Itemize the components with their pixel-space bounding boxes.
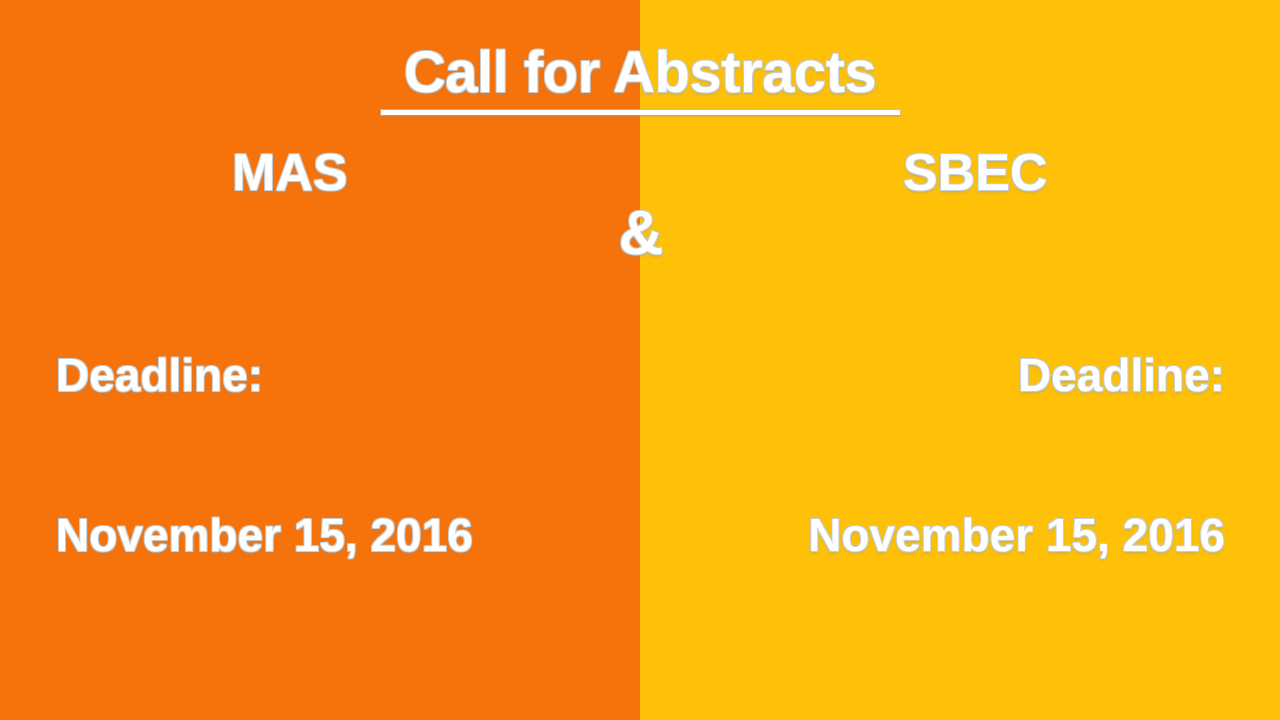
ampersand-conjunction: & [609,203,673,265]
left-deadline-date: November 15, 2016 [56,512,473,558]
slide-title-container: Call for Abstracts [0,44,1280,102]
left-deadline-label: Deadline: [56,352,473,398]
right-deadline-date: November 15, 2016 [808,512,1225,558]
left-org-name: MAS [232,147,348,199]
call-for-abstracts-slide: Call for Abstracts MAS SBEC & Deadline: … [0,0,1280,720]
slide-title: Call for Abstracts [404,44,876,102]
left-deadline-block: Deadline: November 15, 2016 [56,260,473,650]
right-deadline-block: Deadline: November 15, 2016 [808,260,1225,650]
slide-title-underline [381,110,900,115]
right-org-name: SBEC [903,147,1047,199]
right-deadline-label: Deadline: [808,352,1225,398]
